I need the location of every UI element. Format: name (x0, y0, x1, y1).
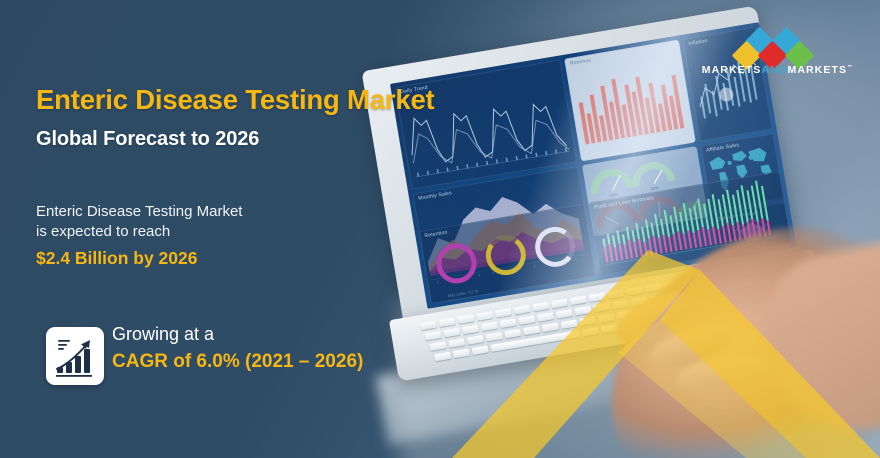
logo-word-2: MARKETS (787, 64, 847, 76)
marketing-banner: Daily Trend (0, 0, 880, 458)
page-title: Enteric Disease Testing Market (36, 84, 435, 116)
cagr-line-2: CAGR of 6.0% (2021 – 2026) (112, 351, 363, 373)
red-bars-label: Revenue (570, 57, 592, 66)
logo-word-and: AND (761, 64, 787, 76)
logo-trademark: ™ (847, 65, 853, 71)
retention-donut-2 (483, 232, 529, 278)
market-value-highlight: $2.4 Billion by 2026 (36, 248, 197, 269)
brand-logo[interactable]: MARKETSANDMARKETS™ (700, 26, 855, 84)
retention-donut-3 (532, 224, 578, 270)
logo-word-1: MARKETS (702, 64, 762, 76)
body-line-1: Enteric Disease Testing Market (36, 203, 242, 220)
body-line-2: is expected to reach (36, 223, 170, 240)
page-subtitle: Global Forecast to 2026 (36, 128, 259, 151)
red-bars-panel: Revenue (564, 40, 696, 162)
cagr-line-1: Growing at a (112, 324, 214, 345)
text-content: Enteric Disease Testing Market Global Fo… (0, 0, 470, 458)
logo-wordmark: MARKETSANDMARKETS™ (700, 64, 855, 76)
growth-bar-chart-icon (46, 327, 104, 385)
